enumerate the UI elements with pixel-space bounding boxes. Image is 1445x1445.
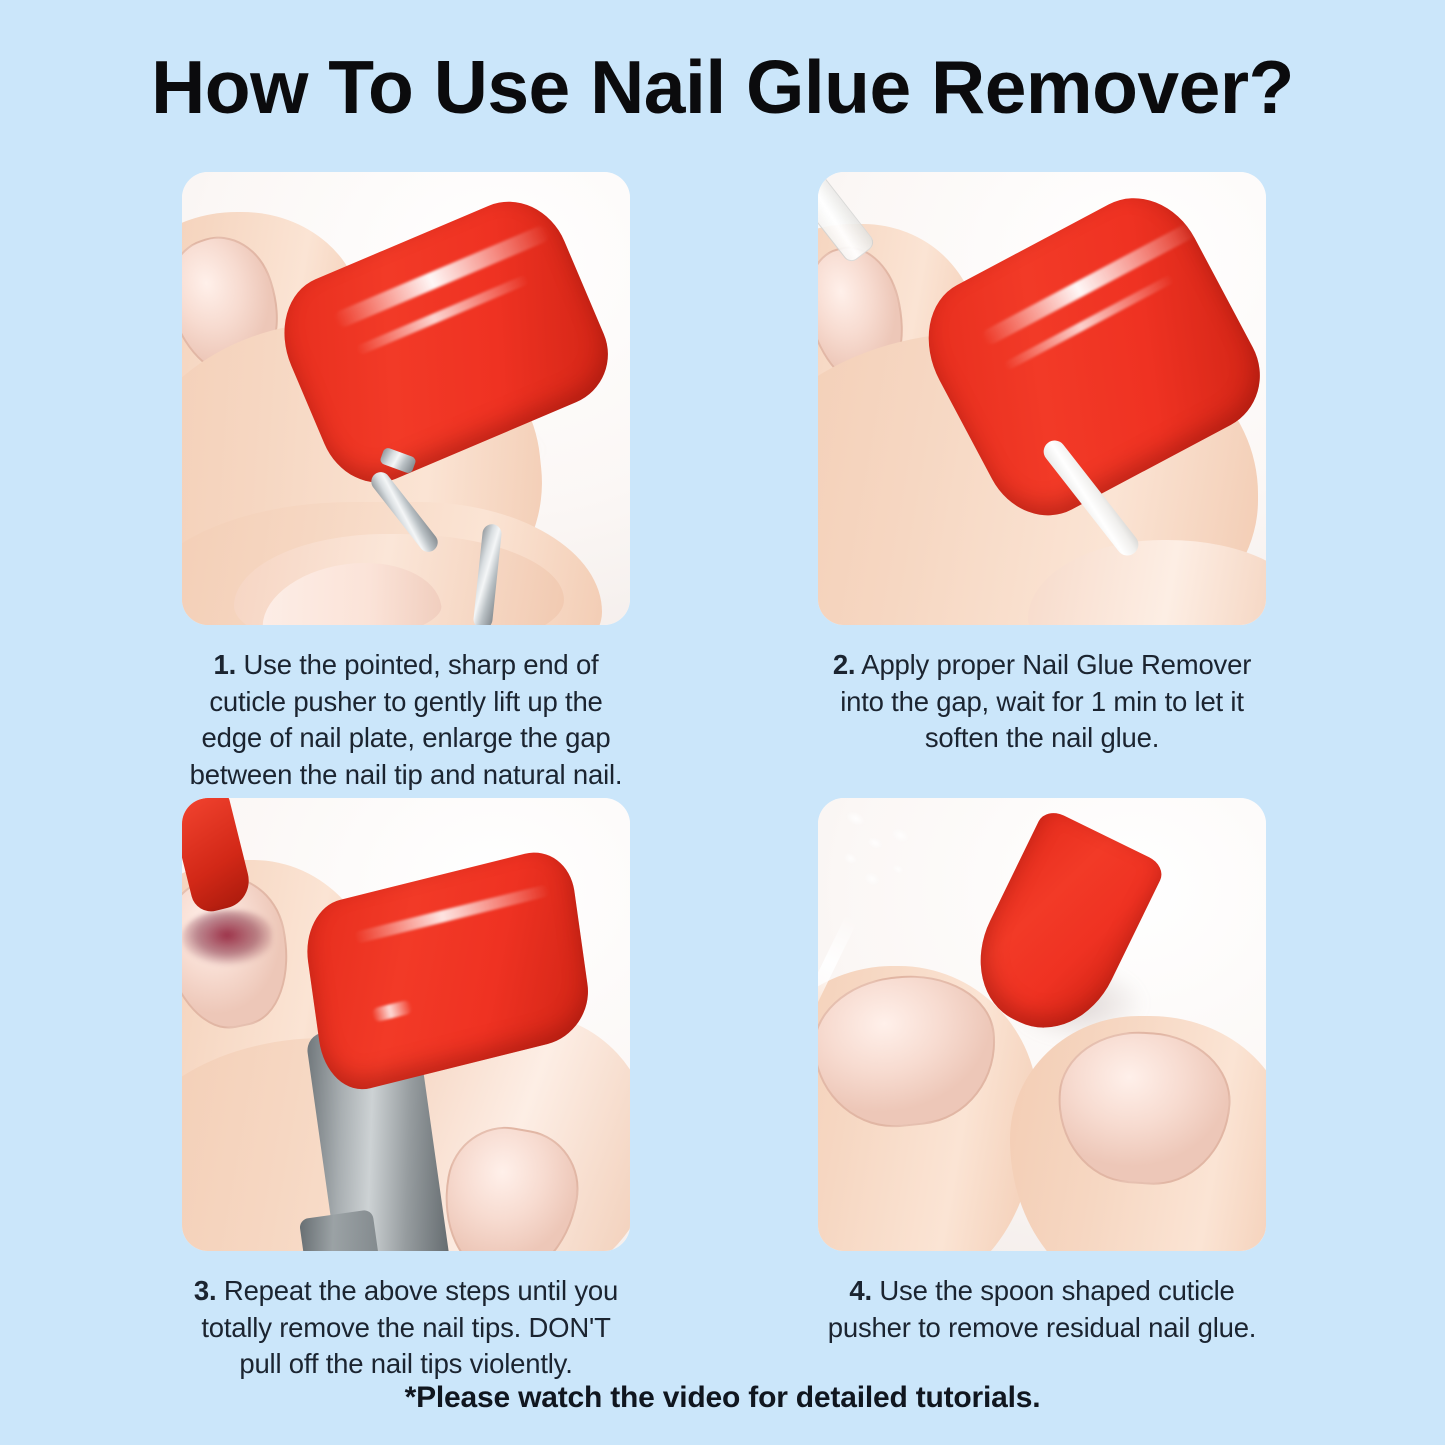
footnote: *Please watch the video for detailed tut… (0, 1381, 1445, 1415)
infographic-page: How To Use Nail Glue Remover? (0, 0, 1445, 1445)
step-4-caption: 4. Use the spoon shaped cuticle pusher t… (818, 1273, 1266, 1346)
step-2-number: 2. (833, 649, 856, 680)
step-card-1: 1. Use the pointed, sharp end of cuticle… (182, 172, 630, 793)
step-4-text: Use the spoon shaped cuticle pusher to r… (828, 1275, 1256, 1343)
step-card-2: 2. Apply proper Nail Glue Remover into t… (818, 172, 1266, 757)
step-3-caption: 3. Repeat the above steps until you tota… (182, 1273, 630, 1383)
step-4-photo (818, 798, 1266, 1251)
step-2-photo (818, 172, 1266, 625)
step-1-caption: 1. Use the pointed, sharp end of cuticle… (182, 647, 630, 793)
scene-removed-tip-residual-glue (818, 798, 1266, 1251)
step-2-caption: 2. Apply proper Nail Glue Remover into t… (818, 647, 1266, 757)
scene-pry-nail-tip (182, 798, 630, 1251)
step-card-4: 4. Use the spoon shaped cuticle pusher t… (818, 798, 1266, 1346)
glue-stain (182, 910, 272, 966)
page-title: How To Use Nail Glue Remover? (0, 44, 1445, 130)
step-2-text: Apply proper Nail Glue Remover into the … (840, 649, 1251, 753)
step-4-number: 4. (849, 1275, 872, 1306)
step-1-number: 1. (214, 649, 237, 680)
step-1-text: Use the pointed, sharp end of cuticle pu… (190, 649, 623, 790)
steps-grid: 1. Use the pointed, sharp end of cuticle… (182, 172, 1263, 1352)
step-1-photo (182, 172, 630, 625)
step-3-text: Repeat the above steps until you totally… (201, 1275, 618, 1379)
step-3-number: 3. (194, 1275, 217, 1306)
scene-cuticle-pusher-lift (182, 172, 630, 625)
scene-apply-remover (818, 172, 1266, 625)
step-card-3: 3. Repeat the above steps until you tota… (182, 798, 630, 1383)
step-3-photo (182, 798, 630, 1251)
